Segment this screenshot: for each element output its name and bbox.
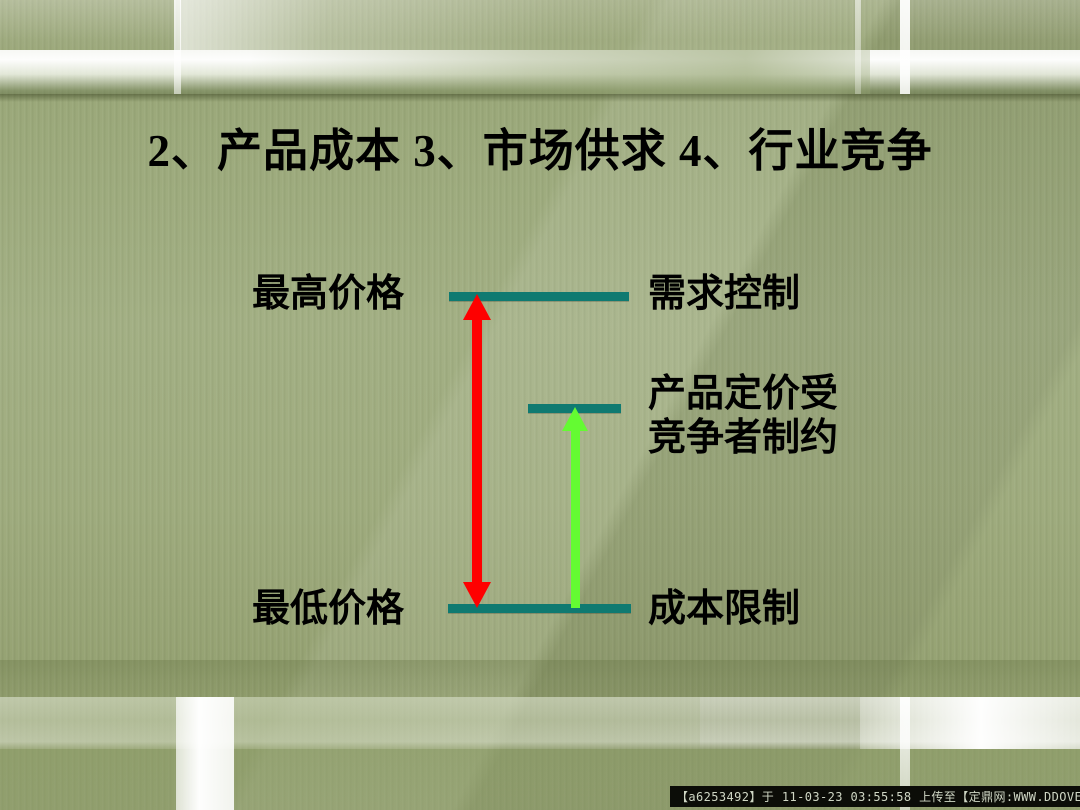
arrow-shaft — [571, 424, 580, 608]
competitor-pressure-arrow — [562, 407, 588, 608]
label-competitor-constraint-line2: 竞争者制约 — [648, 416, 838, 460]
arrow-shaft — [472, 312, 482, 592]
price-range-diagram: 最高价格 最低价格 需求控制 产品定价受 竞争者制约 成本限制 — [0, 0, 1080, 810]
arrow-head-down-icon — [463, 582, 491, 608]
watermark-text: 【a6253492】于 11-03-23 03:55:58 上传至【定鼎网:WW… — [676, 788, 1080, 805]
presentation-slide: 2、产品成本 3、市场供求 4、行业竞争 最高价格 最低价格 需求控制 产品定价… — [0, 0, 1080, 810]
label-competitor-constraint-line1: 产品定价受 — [648, 372, 838, 416]
label-competitor-constraint: 产品定价受 竞争者制约 — [648, 372, 838, 460]
label-min-price: 最低价格 — [252, 587, 404, 631]
label-demand-control: 需求控制 — [648, 272, 800, 316]
watermark-bar: 【a6253492】于 11-03-23 03:55:58 上传至【定鼎网:WW… — [670, 786, 1080, 807]
price-range-arrow — [463, 294, 491, 608]
label-max-price: 最高价格 — [252, 272, 404, 316]
label-cost-limit: 成本限制 — [648, 587, 800, 631]
